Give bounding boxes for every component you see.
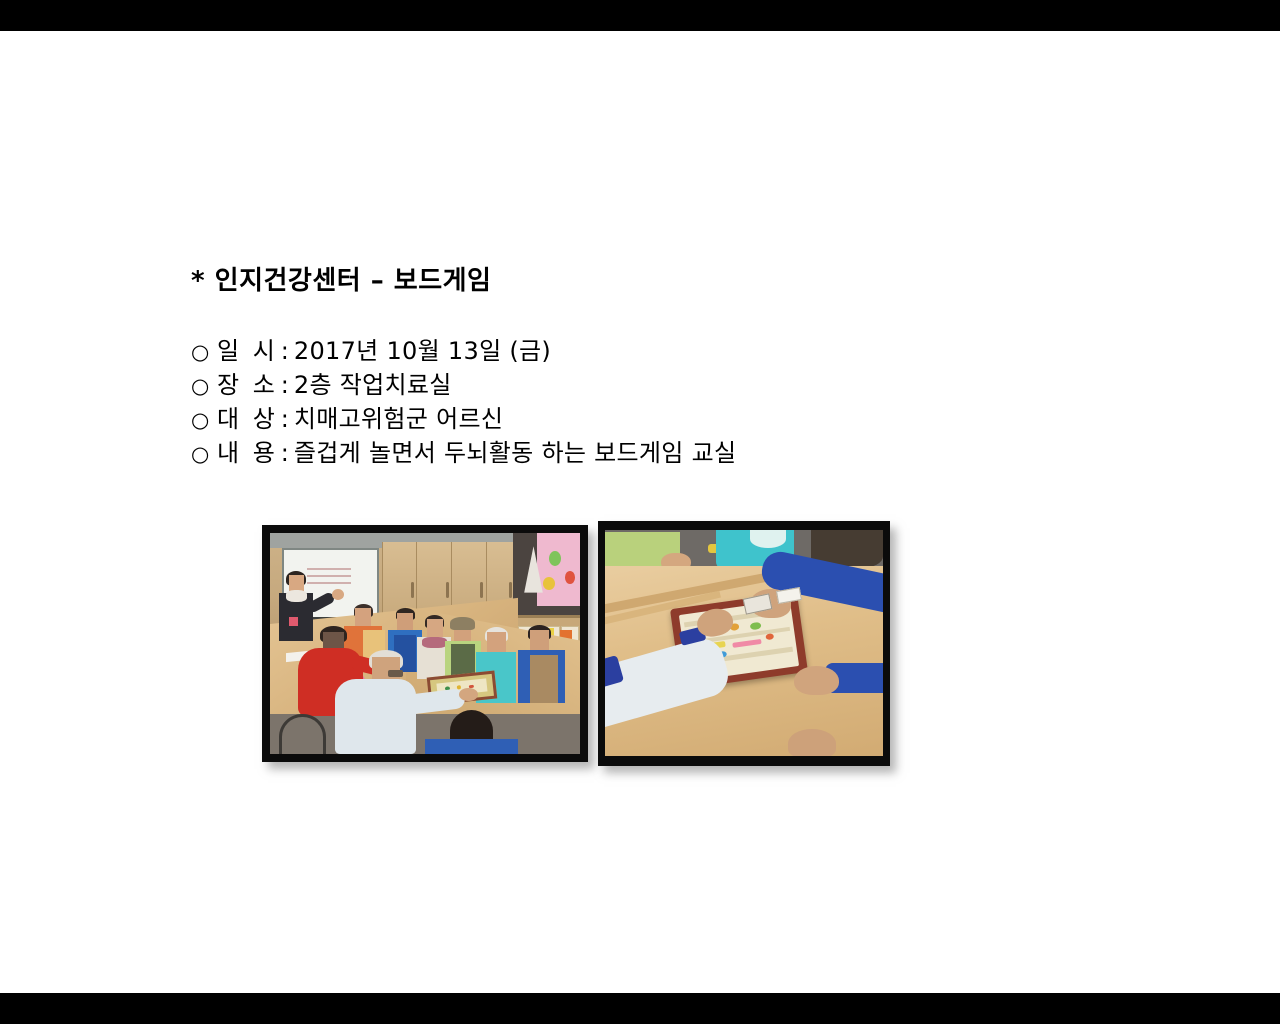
list-item-value: 2층 작업치료실 [294,365,452,400]
list-item-separator: : [281,371,289,399]
letterbox-bar-bottom [0,993,1280,1024]
list-item: ○ 일 시 : 2017년 10월 13일 (금) [191,331,1091,365]
circle-bullet-icon: ○ [191,342,217,363]
slide-stage: * 인지건강센터 – 보드게임 ○ 일 시 : 2017년 10월 13일 (금… [0,0,1280,1024]
list-item-label: 대 상 [217,399,278,434]
letterbox-bar-top [0,0,1280,31]
list-item-label: 장 소 [217,365,278,400]
list-item-separator: : [281,405,289,433]
list-item: ○ 내 용 : 즐겁게 놀면서 두뇌활동 하는 보드게임 교실 [191,433,1091,467]
circle-bullet-icon: ○ [191,376,217,397]
list-item-value: 즐겁게 놀면서 두뇌활동 하는 보드게임 교실 [294,433,736,468]
slide-title: * 인지건강센터 – 보드게임 [191,260,491,297]
boardgame-closeup-photo-image [605,530,883,756]
classroom-group-photo [262,525,588,762]
detail-list: ○ 일 시 : 2017년 10월 13일 (금) ○ 장 소 : 2층 작업치… [191,331,1091,467]
circle-bullet-icon: ○ [191,410,217,431]
classroom-group-photo-image [270,533,580,754]
list-item: ○ 장 소 : 2층 작업치료실 [191,365,1091,399]
list-item: ○ 대 상 : 치매고위험군 어르신 [191,399,1091,433]
slide-canvas: * 인지건강센터 – 보드게임 ○ 일 시 : 2017년 10월 13일 (금… [0,31,1280,993]
list-item-separator: : [281,439,289,467]
circle-bullet-icon: ○ [191,444,217,465]
boardgame-closeup-photo [598,521,890,766]
list-item-separator: : [281,337,289,365]
list-item-label: 일 시 [217,331,278,366]
list-item-value: 2017년 10월 13일 (금) [294,331,551,366]
list-item-value: 치매고위험군 어르신 [294,399,503,434]
list-item-label: 내 용 [217,433,278,468]
